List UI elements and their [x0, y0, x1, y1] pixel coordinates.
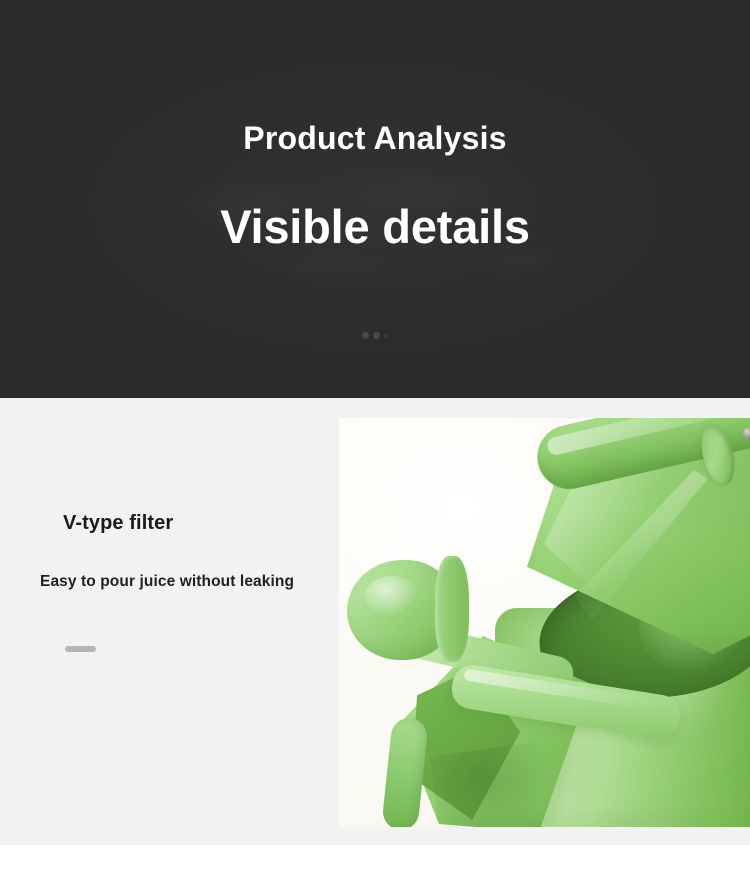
- carousel-dot[interactable]: [373, 332, 380, 339]
- juicer-knob-highlight: [365, 576, 419, 616]
- feature-subtitle: Easy to pour juice without leaking: [40, 573, 294, 591]
- hero-eyebrow: Product Analysis: [0, 118, 750, 158]
- juicer-hinge-pin: [743, 428, 750, 439]
- feature-section: V-type filter Easy to pour juice without…: [0, 398, 750, 845]
- bottom-white-strip: [0, 845, 750, 872]
- carousel-dot-active[interactable]: [362, 332, 369, 339]
- product-photo: [339, 418, 750, 827]
- carousel-pagination[interactable]: [0, 332, 750, 339]
- feature-heading: V-type filter: [63, 512, 173, 535]
- feature-divider: [65, 646, 96, 652]
- feature-text-block: V-type filter Easy to pour juice without…: [0, 398, 340, 845]
- page-title: Visible details: [0, 196, 750, 258]
- carousel-dot[interactable]: [384, 334, 388, 338]
- juicer-knob-band: [435, 556, 469, 662]
- hero-section: Product Analysis Visible details: [0, 0, 750, 398]
- product-contact-shadow: [479, 804, 750, 827]
